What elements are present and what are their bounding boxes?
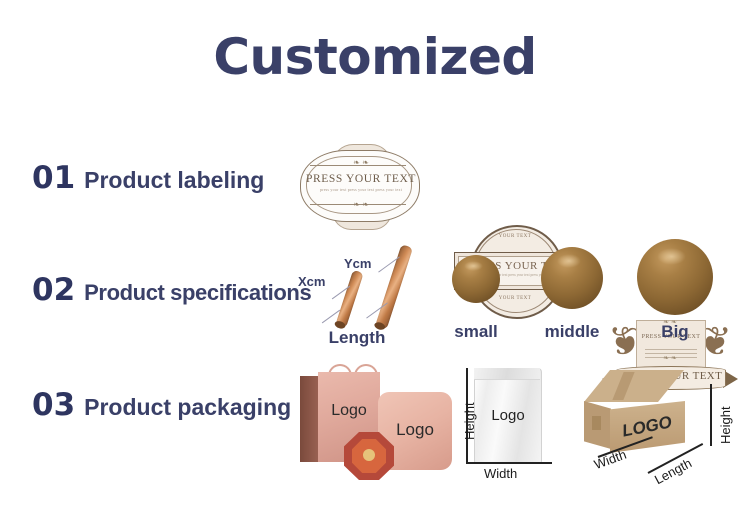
row-label-01: 01 Product labeling: [32, 160, 264, 196]
carton-height-label: Height: [718, 406, 733, 444]
bag-logo-text: Logo: [318, 402, 380, 420]
page-title: Customized: [0, 28, 750, 86]
row-label-02: 02 Product specifications: [32, 272, 311, 308]
gift-bag-set: Logo Logo: [294, 362, 462, 484]
sack-height-label: Height: [462, 402, 477, 440]
dim-label-x: Xcm: [298, 274, 325, 289]
row-number-01: 01: [32, 160, 75, 196]
caption-big: Big: [635, 322, 715, 342]
row-title-03: Product packaging: [84, 394, 291, 421]
badge-sub-text: press your text press your text press yo…: [298, 187, 424, 192]
ornate-badge-label: press your text press your text ❧ ❧ ❧ ❧ …: [298, 146, 424, 228]
row-number-03: 03: [32, 387, 75, 423]
row-number-02: 02: [32, 272, 75, 308]
ball-middle: [541, 247, 603, 309]
stick-small: [335, 270, 363, 329]
dim-label-y: Ycm: [344, 256, 371, 271]
carton-flap: [592, 416, 601, 430]
woven-sack: Logo: [474, 368, 542, 464]
sack-top-seam: [474, 368, 540, 380]
row-title-02: Product specifications: [84, 280, 311, 306]
caption-small: small: [437, 322, 515, 342]
flourish-icon: ❧ ❧: [298, 201, 424, 209]
length-spec-group: Xcm Ycm Length: [292, 236, 422, 331]
bag-side-panel: [300, 376, 320, 462]
flourish-icon: ❧ ❧: [298, 159, 424, 167]
sack-logo-text: Logo: [475, 407, 541, 424]
caption-length: Length: [292, 328, 422, 348]
octagon-tin: [344, 432, 394, 480]
carton-top-face: [584, 370, 684, 402]
customized-infographic: Customized 01 Product labeling press you…: [0, 0, 750, 512]
carton-height-axis: [710, 384, 712, 446]
caption-middle: middle: [531, 322, 613, 342]
ball-big: [637, 239, 713, 315]
sack-width-axis: [468, 462, 552, 464]
woven-sack-group: Logo Height Width: [446, 362, 566, 484]
box-logo-text: Logo: [378, 420, 452, 440]
carton-group: LOGO Height Width Length: [576, 360, 750, 488]
carton-front-face: LOGO: [610, 401, 685, 453]
disc-top-text: YOUR TEXT: [452, 234, 578, 239]
stick-large: [375, 244, 413, 329]
row-title-01: Product labeling: [84, 167, 264, 194]
row-label-03: 03 Product packaging: [32, 387, 291, 423]
carton-box: LOGO: [584, 370, 704, 462]
ball-small: [452, 255, 500, 303]
sack-width-label: Width: [484, 466, 517, 481]
badge-main-text: PRESS YOUR TEXT: [298, 173, 424, 185]
